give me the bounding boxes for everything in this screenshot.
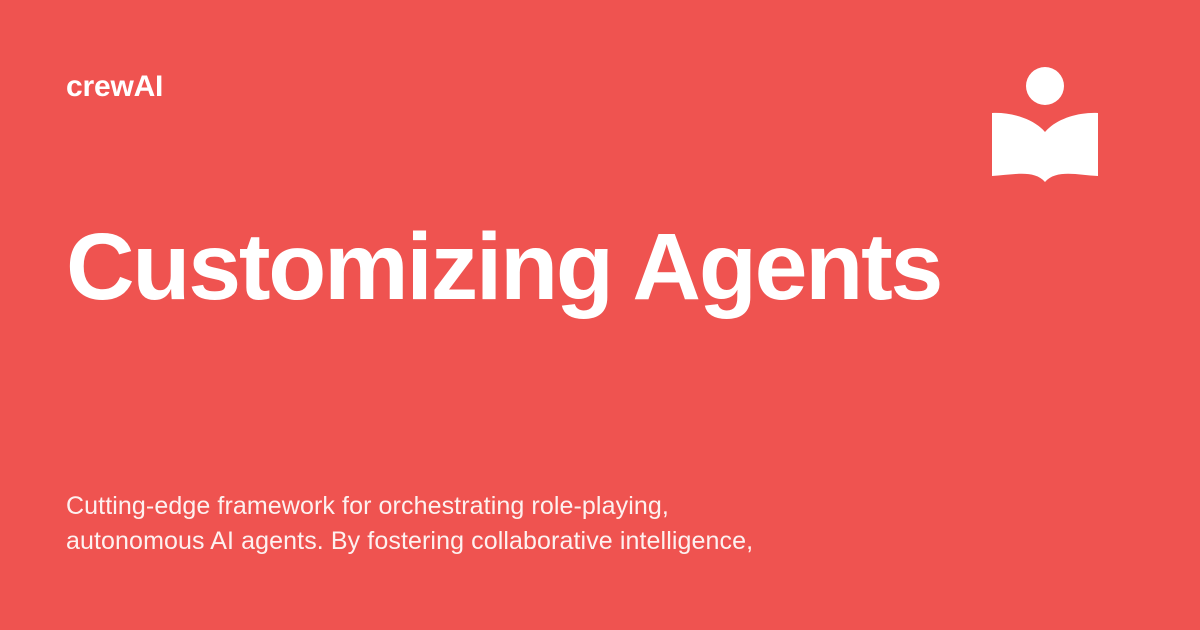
page-title: Customizing Agents: [66, 217, 946, 317]
open-book-reader-icon: [992, 62, 1104, 184]
brand-row: crewAI: [66, 70, 1134, 110]
og-preview-card: crewAI Customizing Agents Cutting-edge f…: [0, 0, 1200, 630]
brand-name: crewAI: [66, 70, 1134, 104]
page-subtitle: Cutting-edge framework for orchestrating…: [66, 489, 966, 559]
